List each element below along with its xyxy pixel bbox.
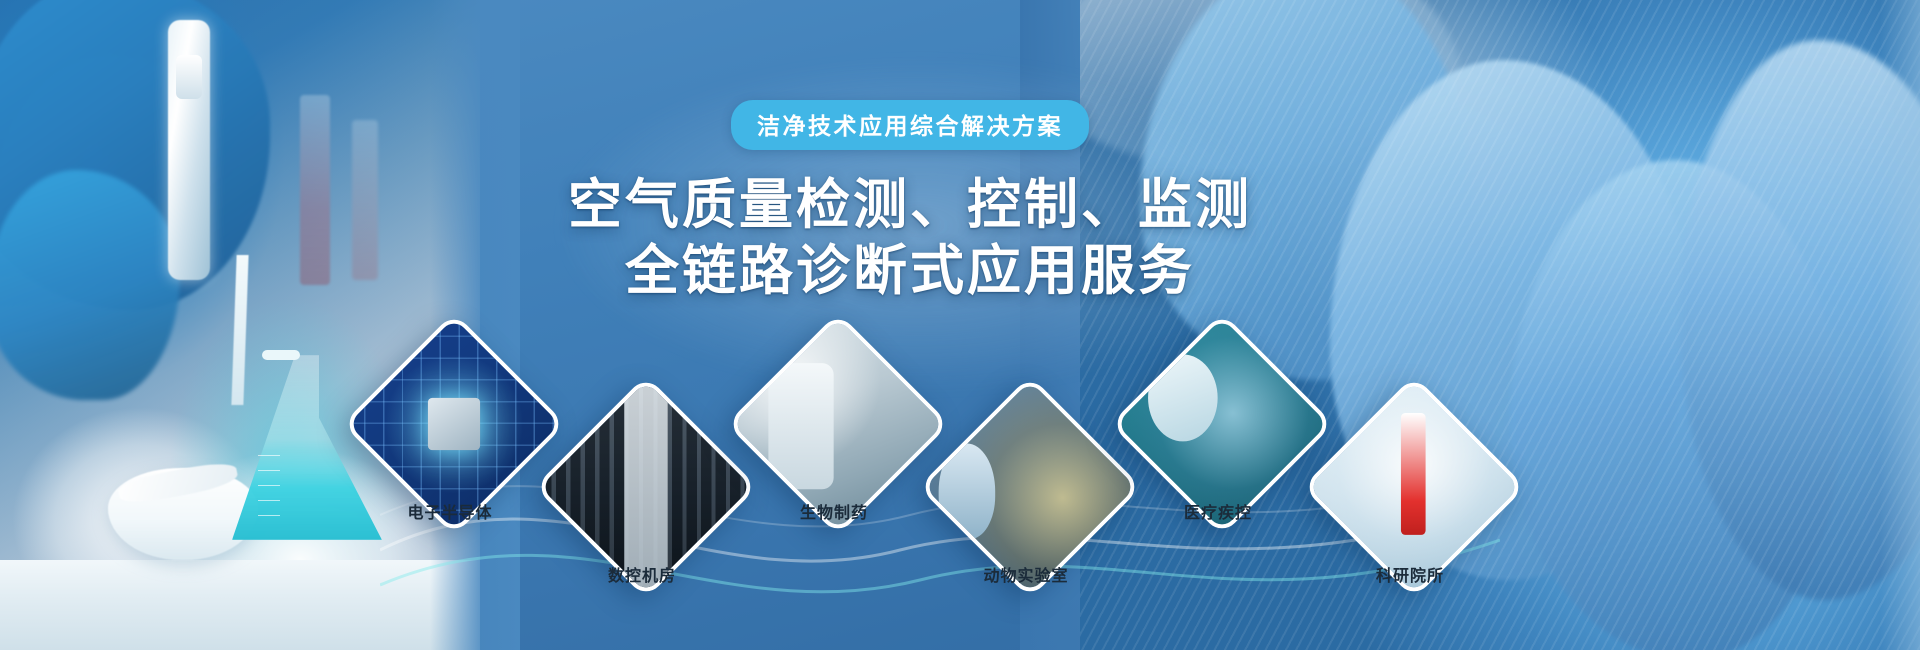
industry-card-label-electronics: 电子半导体 xyxy=(374,499,526,523)
industry-card-label-medical: 医疗疾控 xyxy=(1142,499,1294,523)
industry-card-label-datacenter: 数控机房 xyxy=(566,562,718,586)
industry-card-row: 电子半导体 数控机房 生物制药 动物实验室 医疗疾控 科研院所 xyxy=(0,0,1920,650)
industry-card-label-research: 科研院所 xyxy=(1334,562,1486,586)
industry-card-label-animal-lab: 动物实验室 xyxy=(950,562,1102,586)
right-edge-fade xyxy=(1880,0,1920,650)
industry-card-label-biopharma: 生物制药 xyxy=(758,499,910,523)
hero-banner: 洁净技术应用综合解决方案 空气质量检测、控制、监测 全链路诊断式应用服务 电子半… xyxy=(0,0,1920,650)
